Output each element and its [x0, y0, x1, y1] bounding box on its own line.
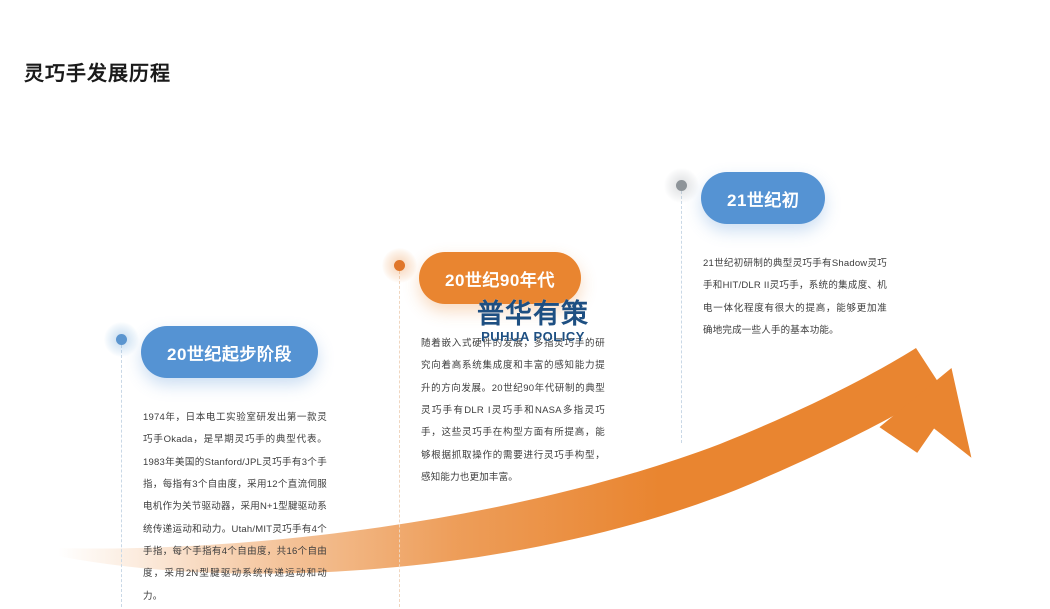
- stage-label-pill[interactable]: 21世纪初: [701, 172, 825, 224]
- page-title: 灵巧手发展历程: [24, 57, 171, 86]
- stage-description: 随着嵌入式硬件的发展，多指灵巧手的研究向着高系统集成度和丰富的感知能力提升的方向…: [421, 333, 605, 489]
- stage-connector-line: [681, 191, 682, 443]
- arrow-head: [870, 368, 991, 489]
- dot-core-icon: [116, 334, 127, 345]
- stage-description: 21世纪初研制的典型灵巧手有Shadow灵巧手和HIT/DLR II灵巧手，系统…: [703, 253, 887, 342]
- timeline-dot-icon: [673, 177, 690, 194]
- watermark-cn-text: 普华有策: [458, 300, 608, 328]
- dot-core-icon: [676, 180, 687, 191]
- stage-label-text: 20世纪90年代: [445, 266, 555, 291]
- dot-core-icon: [394, 260, 405, 271]
- stage-label-pill[interactable]: 20世纪起步阶段: [141, 326, 318, 378]
- stage-connector-line: [399, 271, 400, 607]
- stage-label-text: 20世纪起步阶段: [167, 340, 292, 365]
- stage-label-pill[interactable]: 20世纪90年代: [419, 252, 581, 304]
- timeline-dot-icon: [113, 331, 130, 348]
- timeline-dot-icon: [391, 257, 408, 274]
- stage-connector-line: [121, 345, 122, 607]
- stage-description: 1974年，日本电工实验室研发出第一款灵巧手Okada，是早期灵巧手的典型代表。…: [143, 407, 327, 608]
- stage-label-text: 21世纪初: [727, 186, 799, 211]
